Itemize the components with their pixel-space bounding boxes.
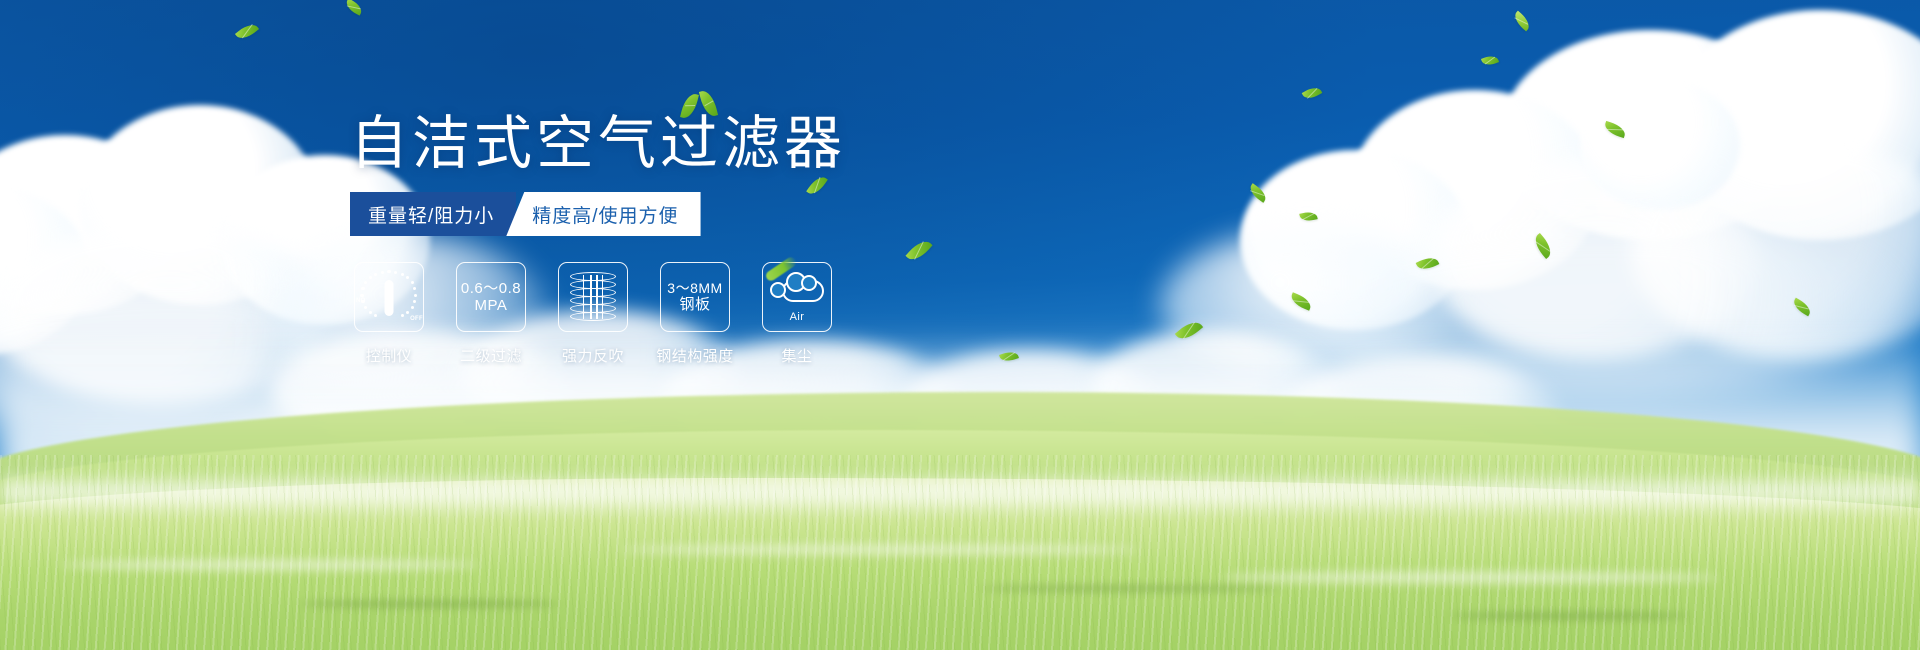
feature-label: 二级过滤 <box>460 345 522 366</box>
banner-content: 自洁式空气过滤器 重量轻/阻力小 精度高/使用方便 <box>0 0 1920 650</box>
steel-thickness: 3～8MM <box>667 280 722 296</box>
feature-item-strong-backflush: 强力反吹 <box>554 262 632 366</box>
pressure-value-icon: 0.6～0.8 MPA <box>461 280 521 315</box>
tag-precision-convenience: 精度高/使用方便 <box>506 192 700 236</box>
pressure-range: 0.6～0.8 <box>461 280 521 297</box>
cloud-bump-small <box>770 282 786 298</box>
page-title: 自洁式空气过滤器 <box>350 115 846 173</box>
tagline-group: 重量轻/阻力小 精度高/使用方便 <box>350 192 701 236</box>
feature-item-steel-structure-strength: 3～8MM 钢板 钢结构强度 <box>656 262 734 366</box>
feature-label: 集尘 <box>781 345 812 366</box>
feature-label: 钢结构强度 <box>656 345 734 366</box>
dial-label-off: OFF <box>410 316 423 322</box>
control-dial-icon: NO OFF <box>363 271 415 323</box>
tag-weight-resistance: 重量轻/阻力小 <box>350 192 516 236</box>
filter-cartridge-icon <box>570 272 616 322</box>
hero-banner: 自洁式空气过滤器 重量轻/阻力小 精度高/使用方便 <box>0 0 1920 650</box>
feature-item-dust-collection: Air 集尘 <box>758 262 836 366</box>
pressure-unit: MPA <box>461 297 521 314</box>
feature-item-control-instrument: NO OFF 控制仪 <box>350 262 428 366</box>
feature-icon-box <box>558 262 628 332</box>
steel-material: 钢板 <box>667 296 722 313</box>
air-cloud-icon: Air <box>768 274 826 320</box>
feature-icon-box: Air <box>762 262 832 332</box>
feature-label: 控制仪 <box>366 345 413 366</box>
feature-label: 强力反吹 <box>562 345 624 366</box>
feature-list: NO OFF 控制仪 0.6～0.8 MPA 二级过滤 <box>350 262 836 366</box>
feature-icon-box: 0.6～0.8 MPA <box>456 262 526 332</box>
air-label: Air <box>768 311 826 323</box>
steel-plate-icon: 3～8MM 钢板 <box>667 280 722 314</box>
dial-label-no: NO <box>356 298 366 304</box>
feature-item-two-stage-filtration: 0.6～0.8 MPA 二级过滤 <box>452 262 530 366</box>
feature-icon-box: 3～8MM 钢板 <box>660 262 730 332</box>
dial-needle <box>385 280 394 316</box>
cloud-bump-mid <box>801 275 817 291</box>
feature-icon-box: NO OFF <box>354 262 424 332</box>
